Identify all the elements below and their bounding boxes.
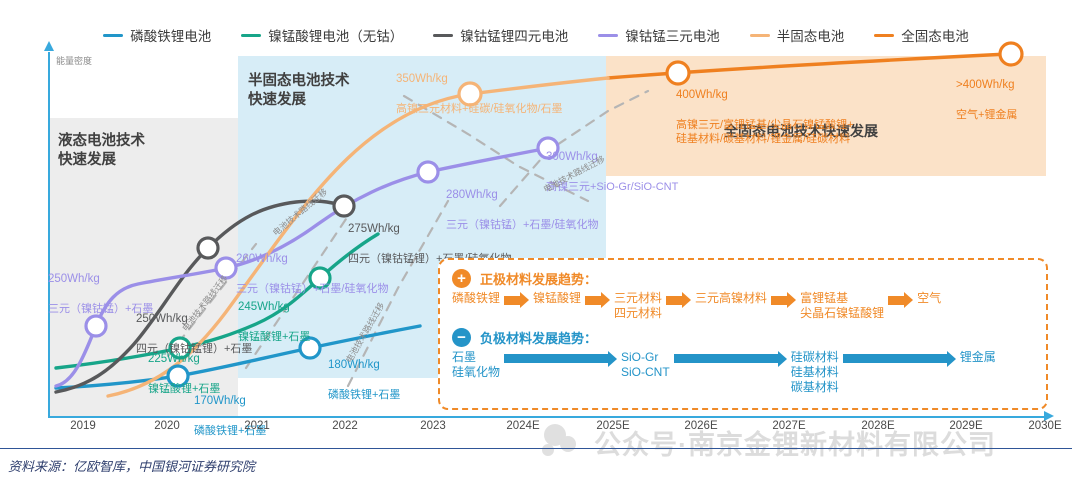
- x-tick-2029E: 2029E: [949, 420, 982, 432]
- legend-label-allsolid: 全固态电池: [901, 25, 969, 45]
- legend-item-ncm[interactable]: 镍钴锰三元电池: [598, 25, 720, 45]
- legend-item-lfp[interactable]: 磷酸铁锂电池: [103, 25, 211, 45]
- cathode-header: + 正极材料发展趋势：: [452, 269, 1034, 288]
- legend-swatch-lfp: [103, 34, 123, 37]
- cathode-step-6: 空气: [917, 291, 941, 306]
- point-label-lfp-180: 180Wh/kg 磷酸铁锂+石墨: [328, 344, 400, 416]
- cathode-flow: 磷酸铁锂 镍锰酸锂 三元材料 四元材料 三元高镍材料 富锂锰基 尖晶石镍锰酸锂 …: [452, 291, 1034, 322]
- anode-flow: 石墨 硅氧化物 SiO-Gr SiO-CNT 硅碳材料 硅基材料 碳基材料 锂金…: [452, 350, 1034, 396]
- anode-step-3: 硅碳材料 硅基材料 碳基材料: [791, 350, 839, 396]
- legend-swatch-allsolid: [874, 34, 894, 37]
- point-label-semisolid-350: 350Wh/kg 高镍三元材料+硅碳/硅氧化物/石墨: [396, 58, 563, 130]
- x-tick-2027E: 2027E: [772, 420, 805, 432]
- legend-item-allsolid[interactable]: 全固态电池: [874, 25, 969, 45]
- y-axis-arrow-icon: [44, 41, 54, 51]
- arrow-right-icon-c4: [771, 293, 796, 307]
- x-tick-2024E: 2024E: [506, 420, 539, 432]
- point-material-lfp-180: 磷酸铁锂+石墨: [328, 388, 400, 402]
- point-material-semisolid-350: 高镍三元材料+硅碳/硅氧化物/石墨: [396, 102, 563, 116]
- cathode-step-1: 磷酸铁锂: [452, 291, 500, 306]
- arrow-right-icon-c1: [504, 293, 529, 307]
- legend-swatch-semisolid: [750, 34, 770, 37]
- legend-item-semisolid[interactable]: 半固态电池: [750, 25, 845, 45]
- point-material-ncm-280: 三元（镍钴锰）+石墨/硅氧化物: [446, 218, 598, 232]
- x-tick-2021: 2021: [244, 420, 270, 432]
- point-quaternary-2021: [198, 238, 218, 258]
- legend-label-ncm: 镍钴锰三元电池: [625, 25, 720, 45]
- anode-title: 负极材料发展趋势：: [480, 328, 597, 347]
- plus-icon: +: [452, 269, 471, 288]
- anode-step-2: SiO-Gr SiO-CNT: [621, 350, 670, 381]
- point-ncm-2023: [418, 162, 438, 182]
- arrow-right-icon-a1: [504, 352, 617, 366]
- legend-swatch-ncm: [598, 34, 618, 37]
- source-note: 资料来源：亿欧智库，中国银河证券研究院: [8, 456, 255, 475]
- cathode-step-2: 镍锰酸锂: [533, 291, 581, 306]
- point-value-lfp-180: 180Wh/kg: [328, 358, 400, 373]
- legend-item-lnmo[interactable]: 镍锰酸锂电池（无钴）: [241, 25, 403, 45]
- point-value-ncm-250: 250Wh/kg: [48, 272, 153, 287]
- point-value-ncm-300: 300Wh/kg: [546, 150, 678, 165]
- cathode-step-3: 三元材料 四元材料: [614, 291, 662, 322]
- chart-root: 磷酸铁锂电池 镍锰酸锂电池（无钴） 镍钴锰锂四元电池 镍钴锰三元电池 半固态电池…: [0, 0, 1072, 484]
- point-material-lnmo-225: 镍锰酸锂+石墨: [148, 382, 220, 396]
- cathode-step-4: 三元高镍材料: [695, 291, 767, 306]
- point-value-allsolid-400: 400Wh/kg: [676, 88, 854, 103]
- point-label-allsolid-400: 400Wh/kg 高镍三元/富锂锰基/尖晶石镍锰酸锂+ 硅基材料/碳基材料/锂金…: [676, 74, 854, 160]
- x-tick-2025E: 2025E: [596, 420, 629, 432]
- x-tick-2028E: 2028E: [861, 420, 894, 432]
- x-tick-2026E: 2026E: [684, 420, 717, 432]
- point-allsolid-2030: [1000, 43, 1022, 65]
- cathode-step-5: 富锂锰基 尖晶石镍锰酸锂: [800, 291, 884, 322]
- point-value-allsolid-400plus: >400Wh/kg: [956, 78, 1017, 93]
- arrow-right-icon-c5: [888, 293, 913, 307]
- legend-swatch-quaternary: [433, 34, 453, 37]
- point-material-ncm-260: 三元（镍钴锰）+石墨/硅氧化物: [236, 282, 388, 296]
- cathode-title: 正极材料发展趋势：: [480, 269, 597, 288]
- anode-step-1: 石墨 硅氧化物: [452, 350, 500, 381]
- x-tick-2022: 2022: [332, 420, 358, 432]
- legend-swatch-lnmo: [241, 34, 261, 37]
- point-material-allsolid-400plus: 空气+锂金属: [956, 108, 1017, 122]
- anode-header: − 负极材料发展趋势：: [452, 328, 1034, 347]
- x-tick-2019: 2019: [70, 420, 96, 432]
- x-tick-2020: 2020: [154, 420, 180, 432]
- point-material-lnmo-245: 镍锰酸锂+石墨: [238, 330, 310, 344]
- legend-item-quaternary[interactable]: 镍钴锰锂四元电池: [433, 25, 568, 45]
- x-tick-2023: 2023: [420, 420, 446, 432]
- arrow-right-icon-c2: [585, 293, 610, 307]
- legend-label-quaternary: 镍钴锰锂四元电池: [460, 25, 568, 45]
- chart-legend: 磷酸铁锂电池 镍锰酸锂电池（无钴） 镍钴锰锂四元电池 镍钴锰三元电池 半固态电池…: [0, 24, 1072, 46]
- legend-label-lfp: 磷酸铁锂电池: [130, 25, 211, 45]
- footer-divider: [0, 448, 1072, 449]
- material-trend-box: + 正极材料发展趋势： 磷酸铁锂 镍锰酸锂 三元材料 四元材料 三元高镍材料 富…: [438, 258, 1048, 410]
- arrow-right-icon-a2: [674, 352, 787, 366]
- legend-label-lnmo: 镍锰酸锂电池（无钴）: [268, 25, 403, 45]
- x-tick-2030E: 2030E: [1028, 420, 1061, 432]
- point-material-quaternary-250: 四元（镍钴锰锂）+石墨: [136, 342, 252, 356]
- arrow-right-icon-c3: [666, 293, 691, 307]
- arrow-right-icon-a3: [843, 352, 956, 366]
- anode-step-4: 锂金属: [960, 350, 996, 365]
- minus-icon: −: [452, 328, 471, 347]
- point-material-allsolid-400: 高镍三元/富锂锰基/尖晶石镍锰酸锂+ 硅基材料/碳基材料/锂金属/硅碳材料: [676, 118, 854, 147]
- x-axis-ticks: 2019 2020 2021 2022 2023 2024E 2025E 202…: [48, 420, 1046, 440]
- point-value-semisolid-350: 350Wh/kg: [396, 72, 563, 87]
- point-label-allsolid-400plus: >400Wh/kg 空气+锂金属: [956, 64, 1017, 136]
- legend-label-semisolid: 半固态电池: [777, 25, 845, 45]
